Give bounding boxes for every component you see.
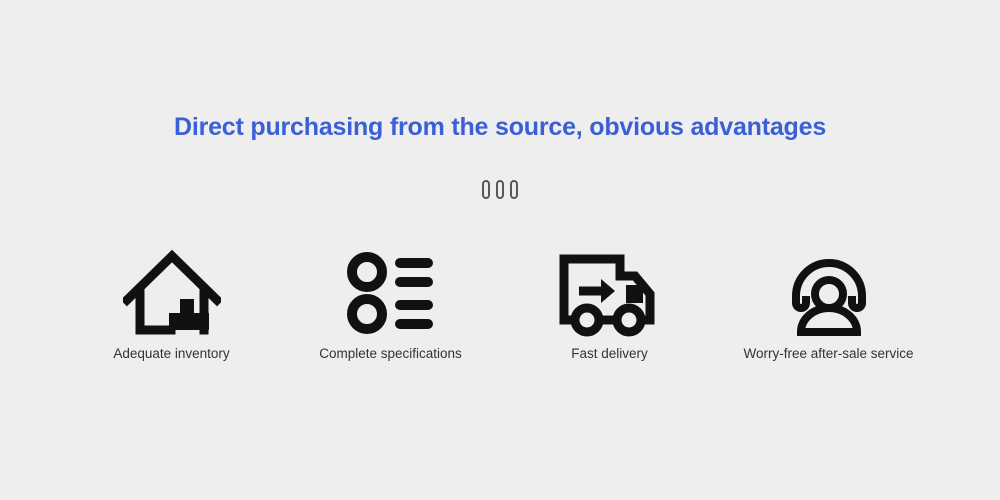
delivery-truck-icon <box>557 246 663 338</box>
feature-item-specifications: Complete specifications <box>281 246 500 361</box>
capsule-icon <box>496 180 504 199</box>
feature-label: Fast delivery <box>571 346 648 361</box>
feature-list: Adequate inventory Complete specificatio… <box>62 246 938 361</box>
specification-list-icon <box>345 246 437 338</box>
feature-item-service: Worry-free after-sale service <box>719 246 938 361</box>
house-icon <box>123 246 221 338</box>
capsule-icon <box>510 180 518 199</box>
capsule-icon <box>482 180 490 199</box>
feature-label: Adequate inventory <box>113 346 229 361</box>
feature-item-delivery: Fast delivery <box>500 246 719 361</box>
promo-banner: Direct purchasing from the source, obvio… <box>0 0 1000 500</box>
feature-item-inventory: Adequate inventory <box>62 246 281 361</box>
headset-support-agent-icon <box>783 246 875 338</box>
feature-label: Worry-free after-sale service <box>743 346 913 361</box>
feature-label: Complete specifications <box>319 346 462 361</box>
page-title: Direct purchasing from the source, obvio… <box>0 113 1000 142</box>
divider-ornament <box>0 180 1000 199</box>
